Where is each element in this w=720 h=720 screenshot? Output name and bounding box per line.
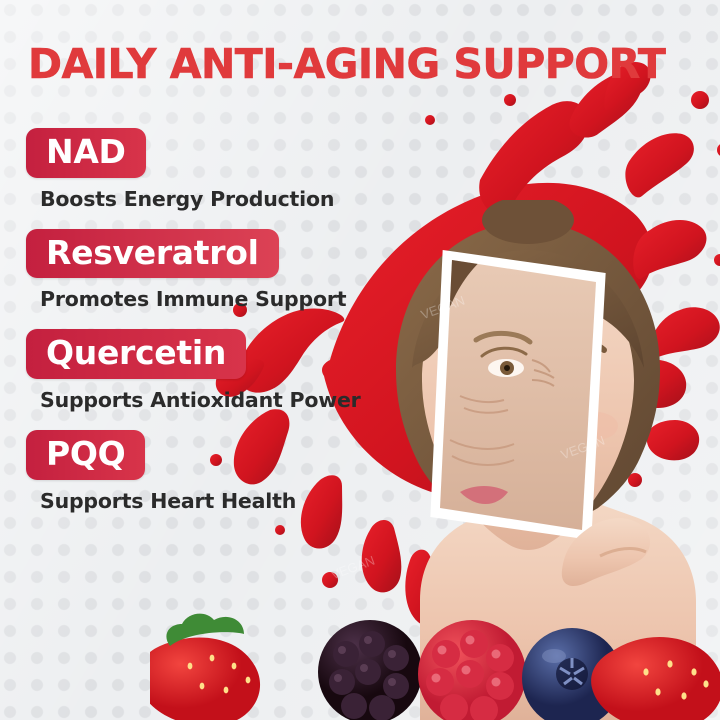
benefit-item-resveratrol: Resveratrol Promotes Immune Support [26, 229, 446, 312]
benefit-item-quercetin: Quercetin Supports Antioxidant Power [26, 329, 446, 412]
benefit-description: Promotes Immune Support [40, 287, 446, 311]
benefit-description: Supports Antioxidant Power [40, 388, 446, 412]
benefit-name-badge: PQQ [26, 430, 145, 480]
benefit-item-nad: NAD Boosts Energy Production [26, 128, 446, 211]
benefit-description: Supports Heart Health [40, 489, 446, 513]
poster-canvas: VEGAN VEGAN VEGAN DAILY ANTI-AGING SUPPO… [0, 0, 720, 720]
benefit-item-pqq: PQQ Supports Heart Health [26, 430, 446, 513]
benefit-name-badge: Resveratrol [26, 229, 279, 279]
benefits-list: NAD Boosts Energy Production Resveratrol… [26, 128, 446, 531]
benefit-name-badge: NAD [26, 128, 146, 178]
benefit-name-badge: Quercetin [26, 329, 246, 379]
berries-row-graphic [150, 600, 720, 720]
page-title: DAILY ANTI-AGING SUPPORT [28, 40, 665, 88]
benefit-description: Boosts Energy Production [40, 187, 446, 211]
